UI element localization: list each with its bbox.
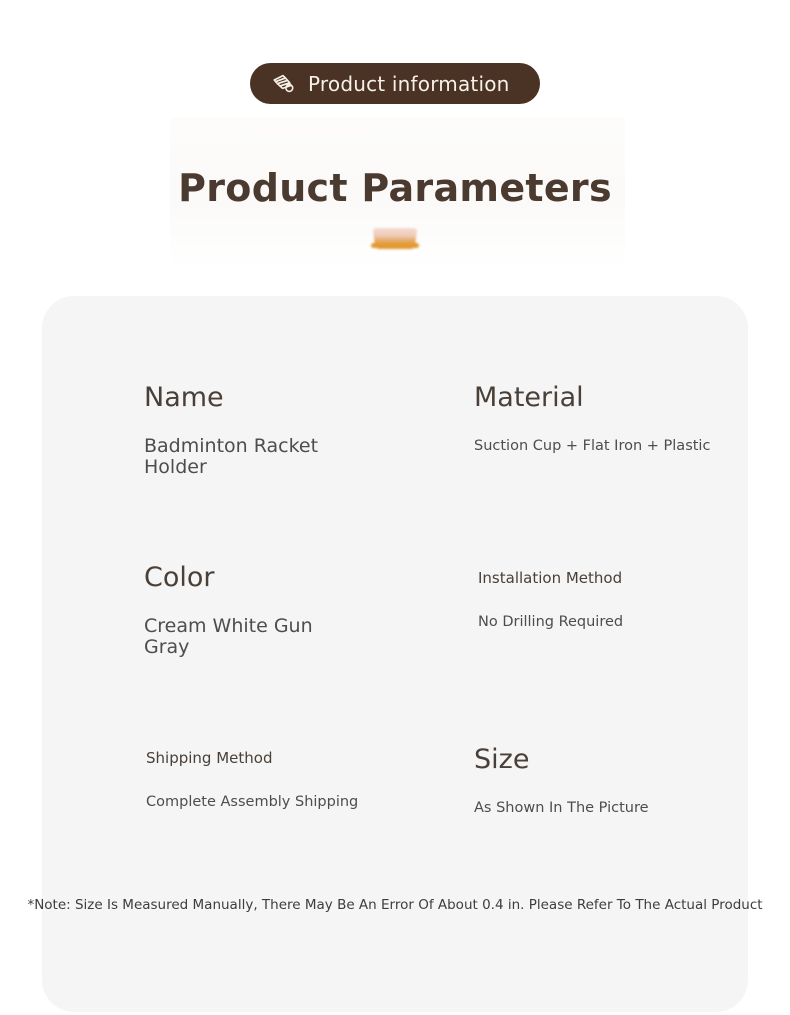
param-cell-color: Color Cream White Gun Gray	[144, 562, 344, 658]
param-label-installation-method: Installation Method	[478, 568, 623, 588]
param-cell-installation-method: Installation Method No Drilling Required	[478, 568, 623, 632]
param-label-shipping-method: Shipping Method	[146, 748, 358, 768]
measurement-note: *Note: Size Is Measured Manually, There …	[0, 897, 790, 913]
gold-tray-ornament-icon	[368, 224, 422, 252]
product-information-badge: Product information	[250, 63, 540, 104]
param-label-name: Name	[144, 382, 354, 414]
param-label-size: Size	[474, 744, 649, 776]
param-cell-name: Name Badminton Racket Holder	[144, 382, 354, 478]
param-label-material: Material	[474, 382, 710, 414]
spacer	[478, 588, 623, 612]
shuttlecock-icon	[270, 71, 296, 97]
page-title: Product Parameters	[0, 166, 790, 210]
param-cell-material: Material Suction Cup + Flat Iron + Plast…	[474, 382, 710, 456]
spacer	[144, 594, 344, 616]
spacer	[474, 776, 649, 798]
badge-label: Product information	[308, 72, 510, 96]
param-value-shipping-method: Complete Assembly Shipping	[146, 792, 358, 812]
param-cell-shipping-method: Shipping Method Complete Assembly Shippi…	[146, 748, 358, 812]
param-label-color: Color	[144, 562, 344, 594]
param-value-name: Badminton Racket Holder	[144, 436, 354, 478]
param-value-material: Suction Cup + Flat Iron + Plastic	[474, 436, 710, 456]
param-value-installation-method: No Drilling Required	[478, 612, 623, 632]
param-value-color: Cream White Gun Gray	[144, 616, 344, 658]
param-value-size: As Shown In The Picture	[474, 798, 649, 818]
param-cell-size: Size As Shown In The Picture	[474, 744, 649, 818]
spacer	[146, 768, 358, 792]
spacer	[144, 414, 354, 436]
spacer	[474, 414, 710, 436]
